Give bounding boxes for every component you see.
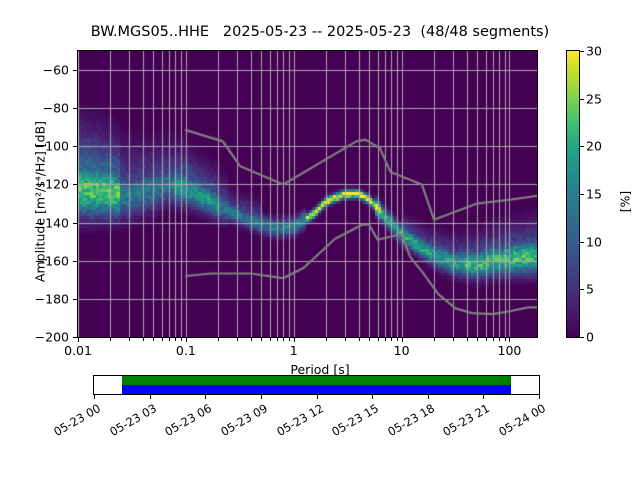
y-tick-label: −100 [0, 139, 69, 154]
y-tick [73, 146, 77, 147]
data-coverage-timeline [93, 375, 540, 395]
x-minor-tick [434, 338, 435, 341]
y-tick-label: −80 [0, 101, 69, 116]
x-tick [78, 338, 79, 342]
timeline-tick [317, 395, 318, 399]
colorbar-tick-label: 0 [586, 330, 594, 345]
x-minor-tick [486, 338, 487, 341]
x-tick-label: 1 [290, 343, 298, 358]
x-minor-tick [326, 338, 327, 341]
timeline-tick [150, 395, 151, 399]
timeline-tick-label: 05-23 18 [381, 401, 436, 441]
x-minor-tick [467, 338, 468, 341]
colorbar-tick [580, 337, 584, 338]
colorbar-tick-label: 20 [586, 139, 602, 154]
x-minor-tick [359, 338, 360, 341]
timeline-tick-label: 05-23 03 [103, 401, 158, 441]
y-tick [73, 337, 77, 338]
colorbar-tick [580, 242, 584, 243]
y-tick-label: −160 [0, 253, 69, 268]
x-minor-tick [237, 338, 238, 341]
colorbar-tick [580, 194, 584, 195]
x-minor-tick [218, 338, 219, 341]
timeline-tick [483, 395, 484, 399]
timeline-tick-label: 05-23 09 [214, 401, 269, 441]
figure-title: BW.MGS05..HHE 2025-05-23 -- 2025-05-23 (… [0, 24, 640, 40]
x-tick [509, 338, 510, 342]
timeline-tick-label: 05-23 00 [48, 401, 103, 441]
x-minor-tick [289, 338, 290, 341]
x-minor-tick [181, 338, 182, 341]
colorbar-tick [580, 289, 584, 290]
x-minor-tick [175, 338, 176, 341]
x-minor-tick [261, 338, 262, 341]
colorbar-label: [%] [618, 122, 633, 282]
timeline-tick [205, 395, 206, 399]
y-tick-label: −60 [0, 63, 69, 78]
timeline-tick [261, 395, 262, 399]
y-tick [73, 70, 77, 71]
x-minor-tick [110, 338, 111, 341]
y-tick [73, 108, 77, 109]
colorbar-tick-label: 10 [586, 234, 602, 249]
x-minor-tick [277, 338, 278, 341]
colorbar-tick-label: 25 [586, 91, 602, 106]
colorbar-tick-label: 5 [586, 282, 594, 297]
timeline-tick-label: 05-23 15 [326, 401, 381, 441]
x-minor-tick [453, 338, 454, 341]
timeline-tick [428, 395, 429, 399]
colorbar-tick-label: 30 [586, 44, 602, 59]
x-tick-label: 100 [498, 343, 522, 358]
x-tick [402, 338, 403, 342]
x-tick [186, 338, 187, 342]
ppsd-figure: BW.MGS05..HHE 2025-05-23 -- 2025-05-23 (… [0, 0, 640, 480]
x-minor-tick [493, 338, 494, 341]
y-tick-label: −140 [0, 215, 69, 230]
x-minor-tick [169, 338, 170, 341]
colorbar-tick [580, 99, 584, 100]
colorbar-tick [580, 51, 584, 52]
x-minor-tick [143, 338, 144, 341]
x-minor-tick [397, 338, 398, 341]
x-minor-tick [153, 338, 154, 341]
ppsd-density-canvas [78, 51, 537, 337]
timeline-tick [94, 395, 95, 399]
y-tick [73, 261, 77, 262]
y-tick-label: −200 [0, 330, 69, 345]
x-minor-tick [505, 338, 506, 341]
x-minor-tick [499, 338, 500, 341]
x-minor-tick [283, 338, 284, 341]
x-tick-label: 0.01 [64, 343, 92, 358]
coverage-bar-blue [122, 385, 511, 394]
coverage-bar-green [122, 376, 511, 385]
x-minor-tick [391, 338, 392, 341]
y-tick [73, 299, 77, 300]
ppsd-plot-area [77, 50, 538, 338]
x-minor-tick [369, 338, 370, 341]
x-minor-tick [345, 338, 346, 341]
y-tick-label: −120 [0, 177, 69, 192]
x-tick-label: 0.1 [176, 343, 196, 358]
x-minor-tick [129, 338, 130, 341]
x-minor-tick [378, 338, 379, 341]
timeline-tick [372, 395, 373, 399]
x-minor-tick [385, 338, 386, 341]
y-tick [73, 184, 77, 185]
colorbar [566, 50, 580, 338]
x-minor-tick [270, 338, 271, 341]
timeline-tick-label: 05-23 21 [437, 401, 492, 441]
timeline-tick-label: 05-23 12 [270, 401, 325, 441]
timeline-tick [539, 395, 540, 399]
colorbar-tick-label: 15 [586, 187, 602, 202]
x-tick [294, 338, 295, 342]
timeline-tick-label: 05-23 06 [159, 401, 214, 441]
x-minor-tick [162, 338, 163, 341]
x-tick-label: 10 [394, 343, 410, 358]
x-minor-tick [251, 338, 252, 341]
y-tick [73, 223, 77, 224]
y-tick-label: −180 [0, 291, 69, 306]
y-axis-label: Amplitude [m²/s⁴/Hz] [dB] [33, 82, 48, 322]
colorbar-tick [580, 146, 584, 147]
timeline-tick-label: 05-24 00 [493, 401, 548, 441]
x-minor-tick [477, 338, 478, 341]
